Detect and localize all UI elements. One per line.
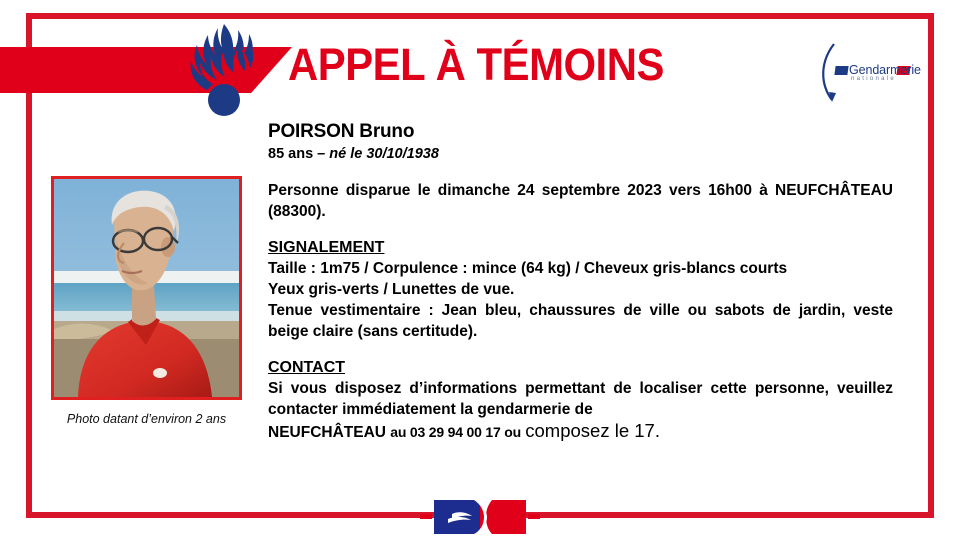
- gendarmerie-nationale-logo: Gendarmerie nationale: [818, 42, 922, 104]
- signalement-heading: SIGNALEMENT: [268, 237, 893, 258]
- contact-heading: CONTACT: [268, 357, 893, 378]
- person-birthdate: né le 30/10/1938: [329, 146, 439, 162]
- photo-caption: Photo datant d’environ 2 ans: [51, 412, 242, 426]
- person-age: 85 ans –: [268, 146, 329, 162]
- footer-dash-left-icon: [420, 514, 432, 519]
- marianne-french-republic-logo: [434, 500, 526, 534]
- gendarmerie-label: Gendarmerie: [849, 63, 921, 77]
- frame-border-top: [26, 13, 934, 19]
- contact-phone-line: NEUFCHÂTEAU au 03 29 94 00 17 ou compose…: [268, 420, 893, 444]
- flaming-grenade-icon: [186, 22, 262, 116]
- contact-emergency-number: composez le 17.: [525, 420, 660, 441]
- contact-paragraph: Si vous disposez d’informations permetta…: [268, 378, 893, 420]
- footer-dash-right-icon: [528, 514, 540, 519]
- poster-root: APPEL À TÉMOINS Gendarmerie nationale: [0, 0, 960, 540]
- flag-bar-blue-icon: [834, 66, 848, 75]
- person-age-birth: 85 ans – né le 30/10/1938: [268, 144, 893, 164]
- page-title: APPEL À TÉMOINS: [288, 42, 664, 87]
- signalement-line-1: Taille : 1m75 / Corpulence : mince (64 k…: [268, 258, 893, 279]
- missing-person-photo: [51, 176, 242, 400]
- signalement-line-3: Tenue vestimentaire : Jean bleu, chaussu…: [268, 300, 893, 342]
- nationale-label: nationale: [851, 76, 896, 82]
- poster-text-column: POIRSON Bruno 85 ans – né le 30/10/1938 …: [268, 120, 893, 444]
- person-name: POIRSON Bruno: [268, 120, 893, 143]
- disappearance-paragraph: Personne disparue le dimanche 24 septemb…: [268, 180, 893, 222]
- contact-phone-number: au 03 29 94 00 17 ou: [390, 424, 521, 440]
- frame-border-right: [928, 13, 934, 518]
- signalement-line-2: Yeux gris-verts / Lunettes de vue.: [268, 279, 893, 300]
- contact-city: NEUFCHÂTEAU: [268, 424, 386, 441]
